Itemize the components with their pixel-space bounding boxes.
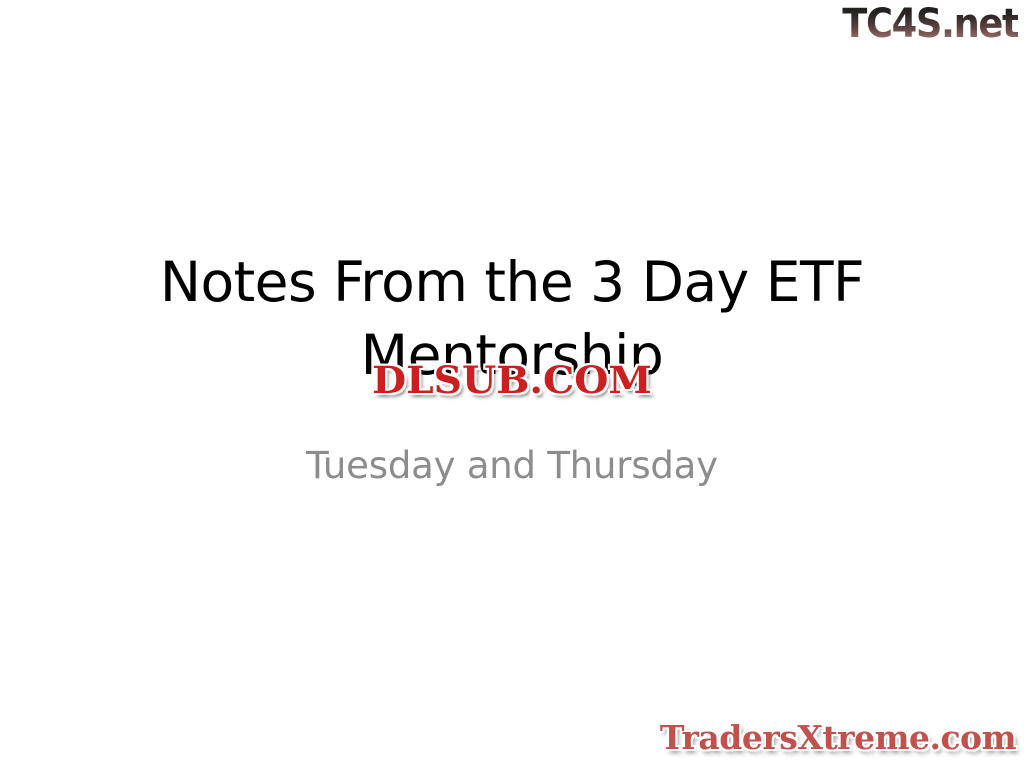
slide-subtitle: Tuesday and Thursday [112,443,912,489]
presentation-slide: TC4S.net Notes From the 3 Day ETF Mentor… [0,0,1024,768]
tradersxtreme-logo: TradersXtreme.com [660,720,1016,756]
slide-title: Notes From the 3 Day ETF Mentorship [112,246,912,392]
tc4s-logo: TC4S.net [842,2,1018,46]
